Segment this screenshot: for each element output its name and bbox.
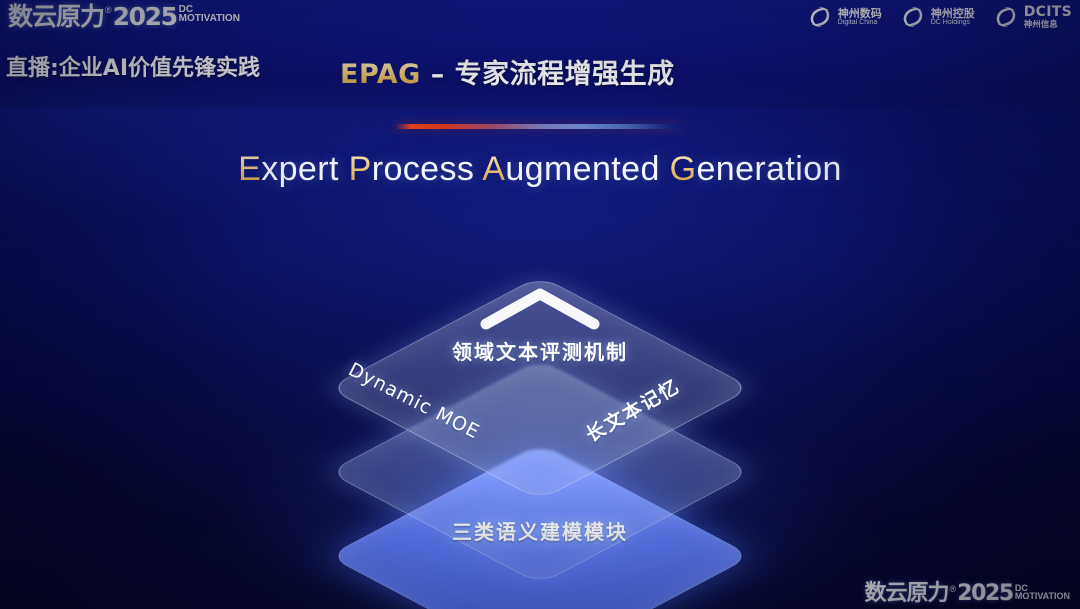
layer-label-top: 领域文本评测机制 <box>452 336 628 365</box>
corp-logo-digital-china: 神州数码 Digital China <box>807 4 882 30</box>
page-title-separator: – <box>421 59 455 90</box>
swirl-logo-icon <box>900 4 926 30</box>
live-broadcast-label: 直播:企业AI价值先锋实践 <box>6 50 260 82</box>
subtitle-word-generation: Generation <box>670 150 842 188</box>
top-banner: 数云原力 ® 2025 DC MOTIVATION 直播:企业AI价值先锋实践 … <box>0 0 1080 108</box>
event-logo-registered-mark: ® <box>105 6 112 15</box>
layer-stack-diagram: 领域文本评测机制 Dynamic MOE 长文本记忆 三类语义建模模块 <box>280 238 800 568</box>
corp-logo-digital-china-en: Digital China <box>838 19 882 26</box>
footer-event-logo-year: 2025 <box>957 583 1013 605</box>
subtitle-word-augmented: Augmented <box>482 150 669 188</box>
corp-logo-dcits-cn: DCITS <box>1024 5 1072 20</box>
subtitle-rest-ugmented: ugmented <box>505 150 669 188</box>
event-logo: 数云原力 ® 2025 DC MOTIVATION <box>8 4 240 29</box>
footer-event-logo: 数云原力 ® 2025 DC MOTIVATION <box>865 583 1070 605</box>
footer-event-logo-cn: 数云原力 <box>865 583 949 605</box>
footer-event-logo-dc-motivation: DC MOTIVATION <box>1015 584 1070 601</box>
event-logo-dc-motivation: DC MOTIVATION <box>179 5 240 24</box>
chevron-up-icon <box>478 286 602 330</box>
layer-label-bottom: 三类语义建模模块 <box>452 516 628 545</box>
subtitle-cap-p: P <box>349 150 372 188</box>
corp-logo-dc-holdings: 神州控股 DC Holdings <box>900 4 975 30</box>
subtitle-cap-e: E <box>238 150 261 188</box>
subtitle-rest-xpert: xpert <box>261 150 348 188</box>
gradient-divider <box>394 124 684 129</box>
event-logo-cn: 数云原力 <box>8 4 104 29</box>
swirl-logo-icon <box>807 4 833 30</box>
swirl-logo-icon <box>993 4 1019 30</box>
event-logo-dc-line2: MOTIVATION <box>179 14 240 24</box>
page-title-acronym: EPAG <box>340 59 421 90</box>
subtitle-rest-eneration: eneration <box>696 150 841 188</box>
corp-logo-digital-china-cn: 神州数码 <box>838 8 882 20</box>
subtitle-cap-a: A <box>482 150 505 188</box>
slide-stage: 数云原力 ® 2025 DC MOTIVATION 直播:企业AI价值先锋实践 … <box>0 0 1080 609</box>
corp-logo-dcits-en: 神州信息 <box>1024 20 1072 29</box>
subtitle: Expert Process Augmented Generation <box>0 150 1080 189</box>
subtitle-rest-rocess: rocess <box>372 150 483 188</box>
event-logo-year: 2025 <box>113 4 177 29</box>
subtitle-word-expert: Expert <box>238 150 349 188</box>
corp-logo-dc-holdings-en: DC Holdings <box>931 19 975 26</box>
page-title: EPAG – 专家流程增强生成 <box>340 52 675 91</box>
footer-event-logo-dc-line2: MOTIVATION <box>1015 592 1070 601</box>
corp-logo-dcits: DCITS 神州信息 <box>993 4 1072 30</box>
footer-event-logo-registered-mark: ® <box>950 585 957 594</box>
subtitle-cap-g: G <box>670 150 697 188</box>
page-title-chinese: 专家流程增强生成 <box>455 59 675 90</box>
corp-logo-dc-holdings-cn: 神州控股 <box>931 8 975 20</box>
subtitle-word-process: Process <box>349 150 483 188</box>
corporate-logo-row: 神州数码 Digital China 神州控股 DC Holdings <box>807 4 1072 30</box>
